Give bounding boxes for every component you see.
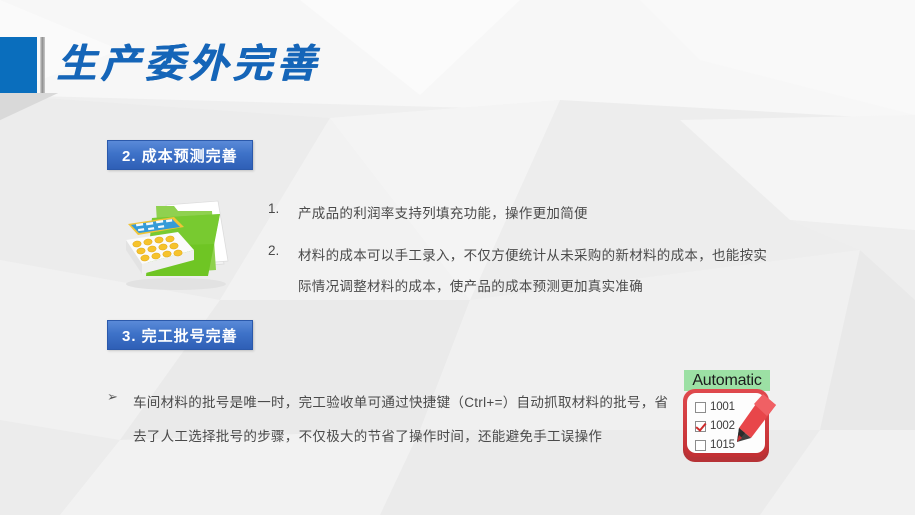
section-heading-label: 2. 成本预测完善 <box>122 145 238 166</box>
list-item: 1. 产成品的利润率支持列填充功能，操作更加简便 <box>268 198 888 229</box>
checkbox-label: 1002 <box>710 420 735 432</box>
list-item-line: 产成品的利润率支持列填充功能，操作更加简便 <box>298 198 888 229</box>
title-square-shadow <box>0 93 60 121</box>
section-heading-batch-number: 3. 完工批号完善 <box>107 320 253 350</box>
list-item-marker: 1. <box>268 198 298 220</box>
title-accent-square <box>0 37 37 93</box>
list-item-line: 际情况调整材料的成本，使产品的成本预测更加真实准确 <box>298 271 888 302</box>
list-item-body: 材料的成本可以手工录入，不仅方便统计从未采购的新材料的成本，也能按实 际情况调整… <box>298 240 888 302</box>
checkbox-1002[interactable] <box>695 421 706 432</box>
list-item: 2. 材料的成本可以手工录入，不仅方便统计从未采购的新材料的成本，也能按实 际情… <box>268 240 888 302</box>
title-accent-bar <box>40 37 45 93</box>
page-title: 生产委外完善 <box>57 33 321 89</box>
section-heading-cost-forecast: 2. 成本预测完善 <box>107 140 253 170</box>
list-item-body: 产成品的利润率支持列填充功能，操作更加简便 <box>298 198 888 229</box>
list-item-line: 材料的成本可以手工录入，不仅方便统计从未采购的新材料的成本，也能按实 <box>298 240 888 271</box>
folder-calculator-icon <box>112 192 234 292</box>
cost-forecast-list: 1. 产成品的利润率支持列填充功能，操作更加简便 2. 材料的成本可以手工录入，… <box>268 198 888 313</box>
automatic-checkbox-icon: Automatic 1001 1002 1015 <box>683 370 813 492</box>
checkbox-label: 1001 <box>710 401 735 413</box>
checkbox-1015[interactable] <box>695 440 706 451</box>
checkbox-label: 1015 <box>710 439 735 451</box>
pencil-icon <box>733 392 779 452</box>
checkbox-1001[interactable] <box>695 402 706 413</box>
automatic-label: Automatic <box>684 370 770 391</box>
slide-canvas: 生产委外完善 2. 成本预测完善 <box>0 0 915 515</box>
section-heading-label: 3. 完工批号完善 <box>122 325 238 346</box>
list-item-marker: 2. <box>268 240 298 262</box>
arrow-bullet-icon: ➢ <box>107 386 133 408</box>
